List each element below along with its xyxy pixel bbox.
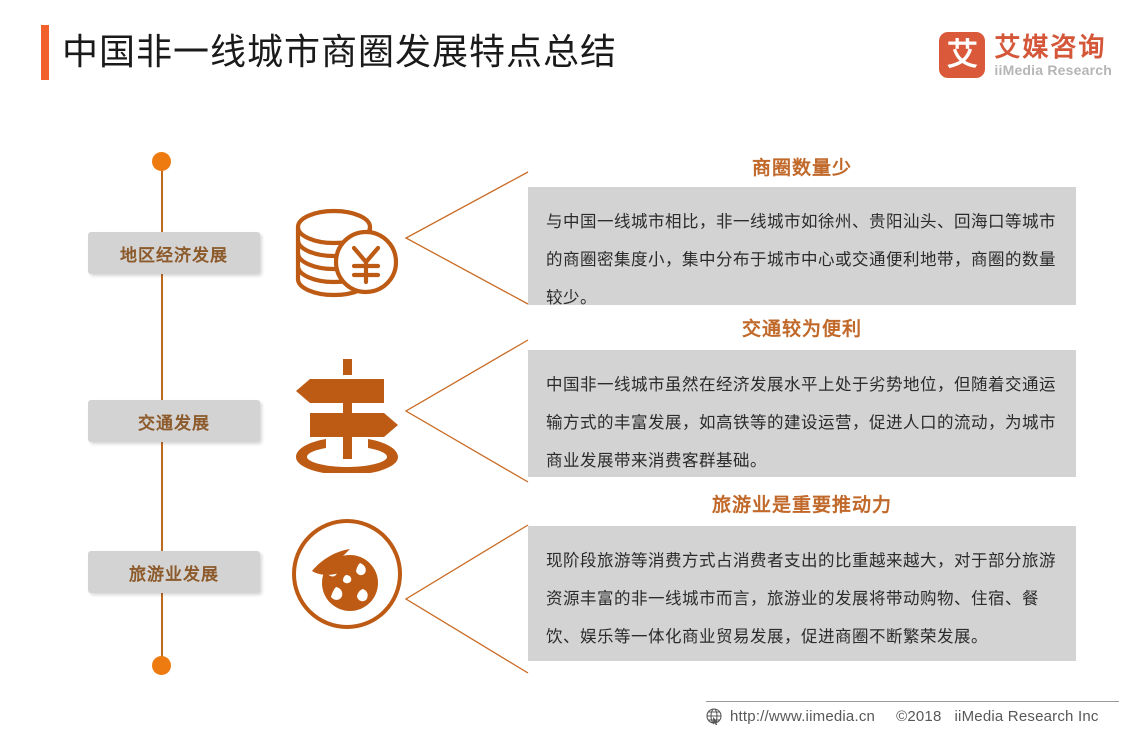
- content-row: 交通发展 交通较为便利 中国非一线城市虽然在经济发展水平上处于劣势地位，但随着交…: [0, 310, 1134, 475]
- logo-name-en: iiMedia Research: [994, 62, 1112, 79]
- logo-text: 艾媒咨询 iiMedia Research: [994, 32, 1112, 79]
- row-label-economy[interactable]: 地区经济发展: [88, 232, 260, 274]
- row-label-tourism[interactable]: 旅游业发展: [88, 551, 260, 593]
- coins-yen-icon: [288, 194, 406, 312]
- row-connector: [404, 170, 530, 306]
- title-accent-bar: [41, 25, 49, 80]
- globe-cursor-icon: [706, 708, 723, 725]
- footer-url[interactable]: http://www.iimedia.cn: [730, 708, 875, 725]
- row-body-text: 中国非一线城市虽然在经济发展水平上处于劣势地位，但随着交通运输方式的丰富发展，如…: [528, 350, 1076, 477]
- footer-copyright: ©2018: [896, 708, 941, 725]
- row-connector: [404, 338, 530, 484]
- footer-content: http://www.iimedia.cn ©2018 iiMedia Rese…: [706, 708, 1099, 725]
- content-row: 地区经济发展 商圈数量少 与中国一线城市相比，非一线城市如徐州、贵阳汕头、回海口…: [0, 150, 1134, 305]
- row-body-text: 与中国一线城市相比，非一线城市如徐州、贵阳汕头、回海口等城市的商圈密集度小，集中…: [528, 187, 1076, 305]
- page-header: 中国非一线城市商圈发展特点总结 艾 艾媒咨询 iiMedia Research: [0, 0, 1134, 110]
- row-heading: 交通较为便利: [528, 317, 1076, 343]
- logo-mark-icon: 艾: [939, 32, 985, 78]
- footer-divider: [706, 701, 1119, 702]
- signpost-icon: [288, 355, 406, 473]
- content-row: 旅游业发展 旅游业是重要推动力 现阶段旅游等消费方式占消费者支出的比重越来越大，…: [0, 485, 1134, 665]
- brand-logo: 艾 艾媒咨询 iiMedia Research: [939, 24, 1112, 86]
- page-title: 中国非一线城市商圈发展特点总结: [62, 26, 617, 78]
- row-body-text: 现阶段旅游等消费方式占消费者支出的比重越来越大，对于部分旅游资源丰富的非一线城市…: [528, 526, 1076, 661]
- row-heading: 商圈数量少: [528, 156, 1076, 182]
- globe-airplane-icon: [288, 515, 406, 633]
- logo-name-cn: 艾媒咨询: [994, 32, 1112, 62]
- page-footer: http://www.iimedia.cn ©2018 iiMedia Rese…: [0, 701, 1134, 737]
- row-connector: [404, 523, 530, 675]
- row-heading: 旅游业是重要推动力: [528, 493, 1076, 519]
- footer-company: iiMedia Research Inc: [955, 708, 1099, 725]
- row-label-transport[interactable]: 交通发展: [88, 400, 260, 442]
